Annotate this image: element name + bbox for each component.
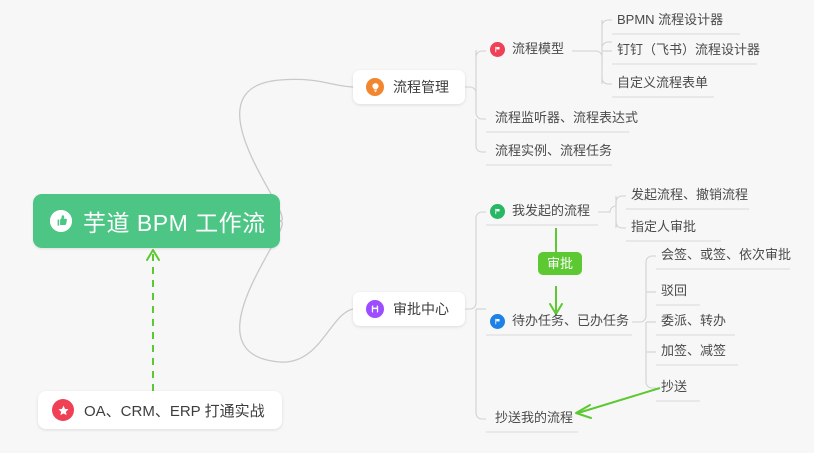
callout-node-integration[interactable]: OA、CRM、ERP 打通实战 — [38, 391, 282, 429]
leaf-label: 驳回 — [661, 283, 687, 299]
link-model-spine — [572, 42, 612, 57]
leaf-process-model[interactable]: 流程模型 — [488, 41, 571, 61]
leaf-label: 抄送 — [661, 379, 687, 395]
flag-icon — [490, 42, 505, 57]
leaf-label: 我发起的流程 — [512, 203, 590, 219]
flag-icon — [490, 204, 505, 219]
document-icon — [366, 300, 384, 318]
root-label: 芋道 BPM 工作流 — [83, 204, 266, 238]
leaf-assignee-approval[interactable]: 指定人审批 — [624, 219, 703, 239]
leaf-label: 流程监听器、流程表达式 — [495, 110, 638, 126]
annotation-badge-approval: 审批 — [538, 252, 582, 275]
link-process-to-instance — [476, 119, 486, 152]
leaf-label: 抄送我的流程 — [495, 410, 573, 426]
leaf-countersign[interactable]: 会签、或签、依次审批 — [654, 247, 798, 267]
callout-arrowhead-up — [147, 250, 159, 260]
link-approve-to-cc — [476, 309, 486, 419]
branch-node-approval-center[interactable]: 审批中心 — [353, 292, 465, 326]
branch-node-process-management[interactable]: 流程管理 — [353, 70, 465, 104]
callout-label: OA、CRM、ERP 打通实战 — [84, 400, 265, 421]
link-initiated-spine — [598, 196, 626, 212]
branch-label: 流程管理 — [393, 77, 449, 97]
leaf-label: 会签、或签、依次审批 — [661, 247, 791, 263]
root-node[interactable]: 芋道 BPM 工作流 — [33, 194, 280, 248]
leaf-label: 加签、减签 — [661, 343, 726, 359]
leaf-label: BPMN 流程设计器 — [617, 12, 723, 28]
annotation-badge-label: 审批 — [547, 256, 573, 271]
link-process-to-model — [476, 51, 486, 57]
leaf-reject[interactable]: 驳回 — [654, 283, 694, 303]
leaf-label: 流程实例、流程任务 — [495, 143, 612, 159]
leaf-carbon-copy[interactable]: 抄送 — [654, 379, 694, 399]
leaf-label: 待办任务、已办任务 — [512, 313, 629, 329]
leaf-process-instance[interactable]: 流程实例、流程任务 — [488, 143, 619, 163]
leaf-bpmn-designer[interactable]: BPMN 流程设计器 — [610, 12, 730, 32]
leaf-todo-done-tasks[interactable]: 待办任务、已办任务 — [488, 313, 636, 333]
leaf-custom-form[interactable]: 自定义流程表单 — [610, 75, 715, 95]
leaf-label: 委派、转办 — [661, 313, 726, 329]
leaf-add-remove-sign[interactable]: 加签、减签 — [654, 343, 733, 363]
leaf-process-listener[interactable]: 流程监听器、流程表达式 — [488, 110, 645, 130]
leaf-cc-to-me-processes[interactable]: 抄送我的流程 — [488, 410, 580, 430]
star-icon — [52, 399, 74, 421]
leaf-label: 发起流程、撤销流程 — [631, 187, 748, 203]
mindmap-canvas: 芋道 BPM 工作流 流程管理 流程模型 BPMN 流程设计器 钉钉（飞书）流程… — [0, 0, 814, 453]
lightbulb-icon — [366, 78, 384, 96]
annotation-arrow-cc — [578, 388, 660, 413]
leaf-label: 流程模型 — [512, 41, 564, 57]
leaf-delegate-transfer[interactable]: 委派、转办 — [654, 313, 733, 333]
thumbs-up-icon — [50, 210, 72, 232]
leaf-dingtalk-designer[interactable]: 钉钉（飞书）流程设计器 — [610, 42, 767, 62]
leaf-label: 指定人审批 — [631, 219, 696, 235]
leaf-my-initiated-processes[interactable]: 我发起的流程 — [488, 203, 597, 223]
leaf-label: 自定义流程表单 — [617, 75, 708, 91]
branch-label: 审批中心 — [393, 299, 449, 319]
flag-icon — [490, 314, 505, 329]
leaf-label: 钉钉（飞书）流程设计器 — [617, 42, 760, 58]
leaf-start-cancel-process[interactable]: 发起流程、撤销流程 — [624, 187, 755, 207]
